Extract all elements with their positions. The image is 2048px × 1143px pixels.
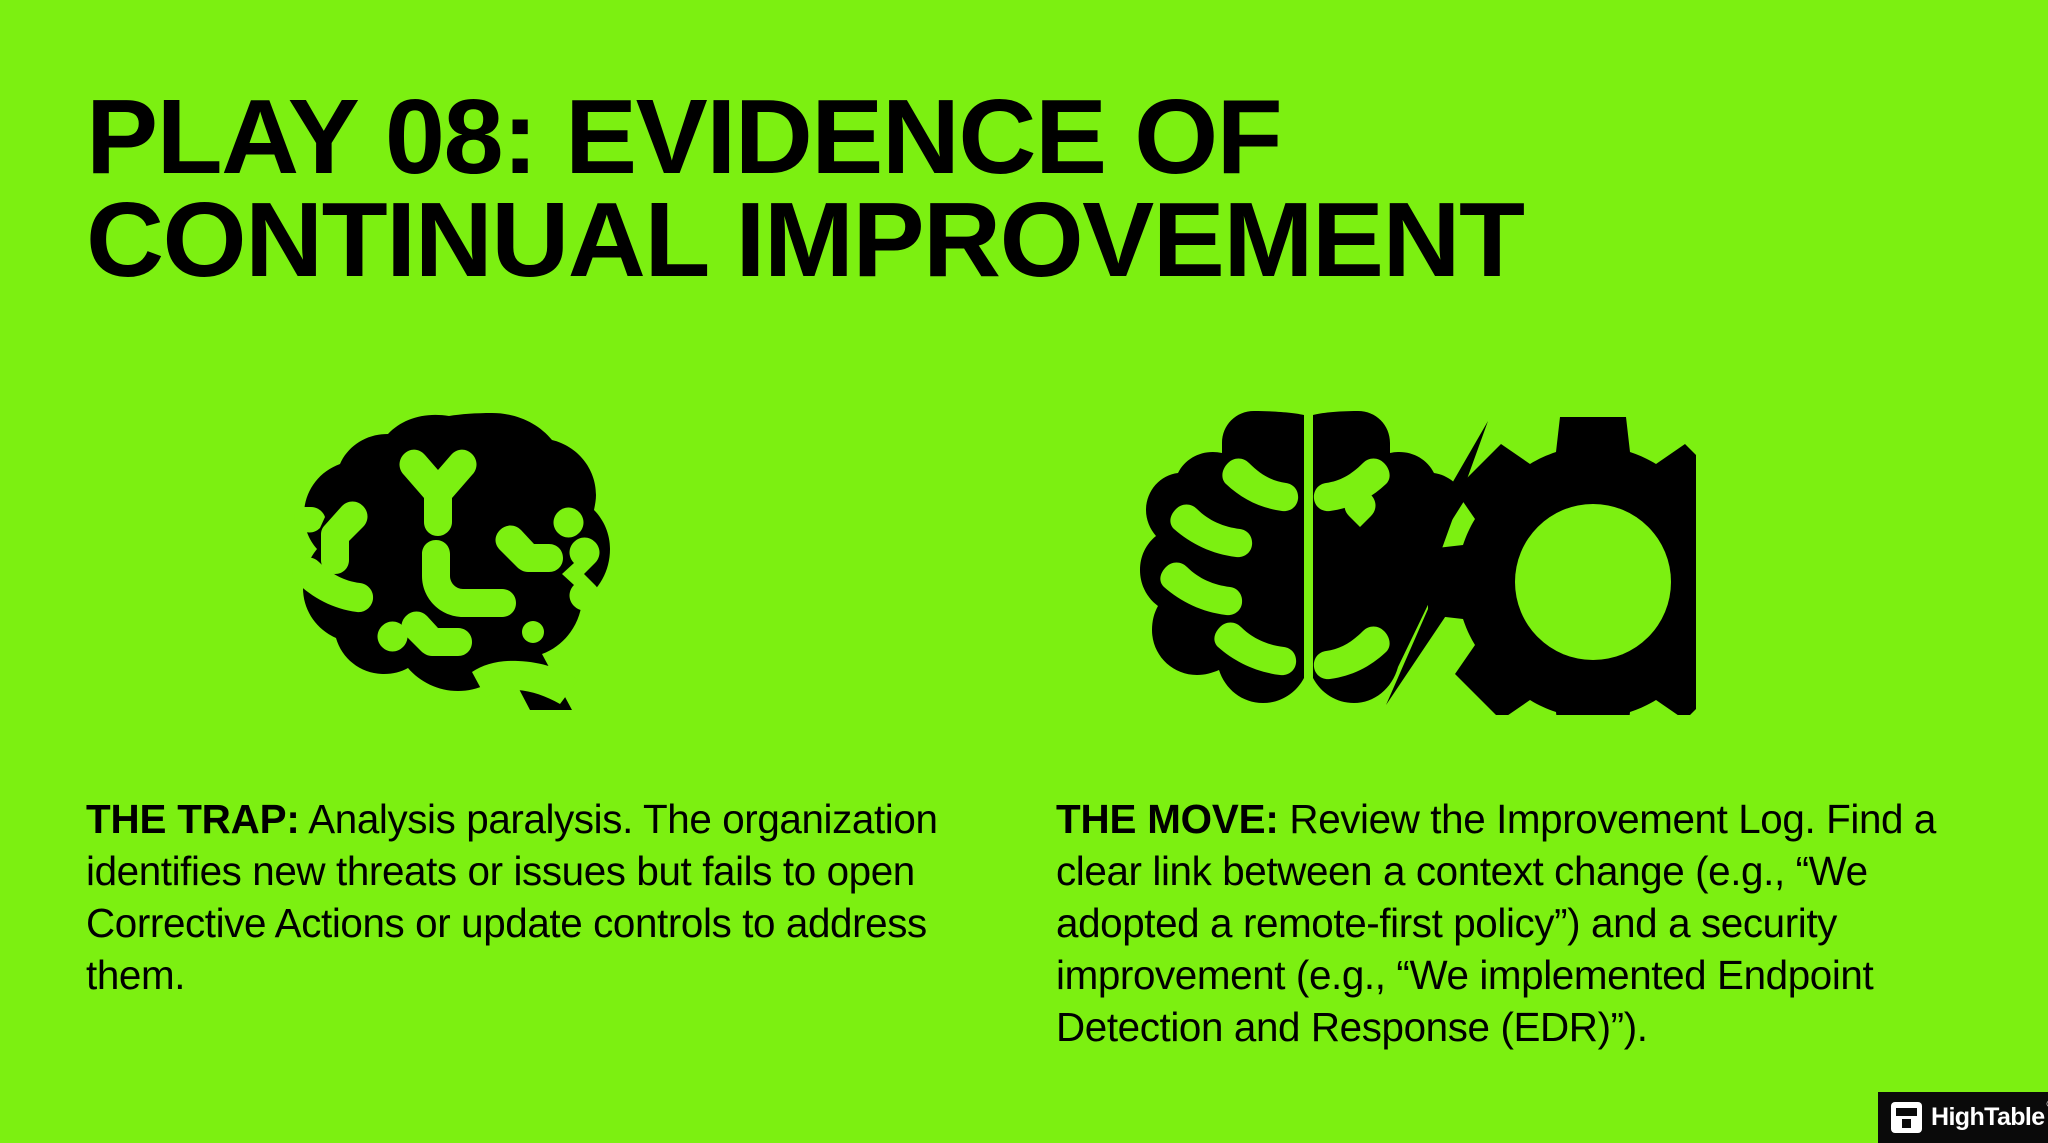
hightable-logo-text: HighTable®	[1931, 1103, 2045, 1132]
brain-bolt-gear-icon	[1136, 405, 1696, 715]
trap-lead-label: THE TRAP:	[86, 796, 300, 842]
content-columns: THE TRAP: Analysis paralysis. The organi…	[0, 355, 2048, 1085]
hightable-logo-mark-icon	[1891, 1102, 1922, 1133]
column-trap: THE TRAP: Analysis paralysis. The organi…	[86, 355, 966, 1085]
page-title-line-2: CONTINUAL IMPROVEMENT	[86, 189, 1881, 292]
brain-icon	[286, 410, 616, 710]
brain-icon-container	[86, 355, 966, 765]
trap-description: THE TRAP: Analysis paralysis. The organi…	[86, 793, 953, 1001]
page-title-line-1: PLAY 08: EVIDENCE OF	[86, 86, 1881, 189]
logo-mark-bar	[1896, 1108, 1917, 1116]
logo-mark-square	[1902, 1119, 1911, 1128]
slide: PLAY 08: EVIDENCE OF CONTINUAL IMPROVEME…	[0, 0, 2048, 1143]
page-title: PLAY 08: EVIDENCE OF CONTINUAL IMPROVEME…	[86, 86, 1881, 292]
move-description: THE MOVE: Review the Improvement Log. Fi…	[1056, 793, 1972, 1053]
brain-bolt-gear-icon-container	[1056, 355, 1986, 765]
logo-wordmark: HighTable	[1931, 1103, 2045, 1131]
hightable-logo: HighTable®	[1878, 1092, 2048, 1143]
move-lead-label: THE MOVE:	[1056, 796, 1279, 842]
column-move: THE MOVE: Review the Improvement Log. Fi…	[1056, 355, 1986, 1085]
